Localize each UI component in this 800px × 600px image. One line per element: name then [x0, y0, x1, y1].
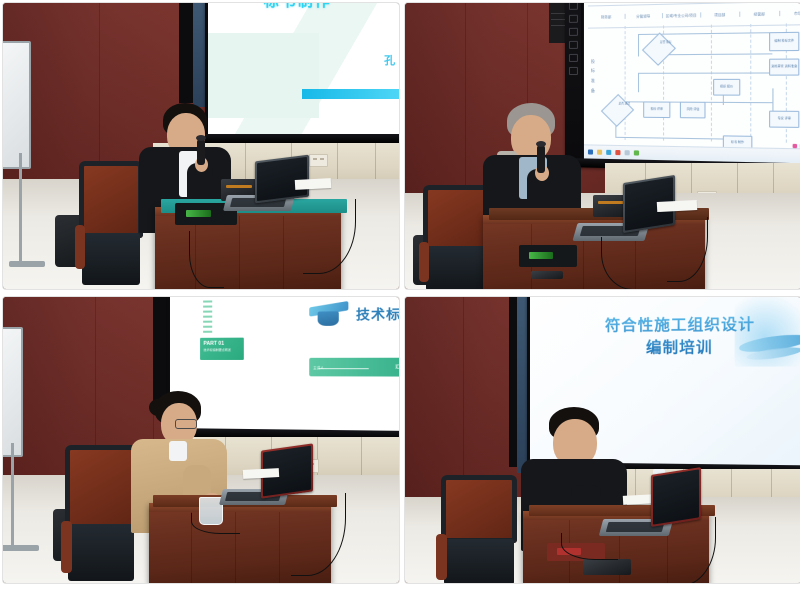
photo-panel-bottom-right[interactable]: 符合性施工组织设计 编制培训 [404, 296, 800, 584]
papers [295, 178, 331, 190]
doc-icon [625, 150, 630, 155]
whiteboard [3, 41, 31, 169]
chat-icon [634, 151, 639, 156]
whiteboard-base [9, 261, 45, 267]
part-badge: PART 01 技术标编制要点概述 [200, 338, 243, 360]
whiteboard-leg [19, 153, 22, 263]
photo-panel-bottom-left[interactable]: PART 01 技术标编制要点概述 技术标编制 主讲人 汇报人: [2, 296, 400, 584]
projector-remote[interactable] [531, 271, 563, 279]
papers [243, 468, 279, 479]
photo-panel-top-left[interactable]: 标书制作 孔 [2, 2, 400, 290]
shirt-collar [169, 441, 187, 461]
projector-remote[interactable] [583, 559, 631, 575]
glasses [175, 419, 197, 429]
flowchart-col-0: 财务部 [588, 14, 625, 20]
part-label: PART 01 [204, 341, 224, 347]
whiteboard-leg [11, 443, 14, 547]
whiteboard-base [3, 545, 39, 551]
flowchart-node-4: 编制 投标文件 [769, 32, 799, 51]
power-outlet [309, 154, 328, 167]
slide-title: 符合性施工组织设计 编制培训 [588, 314, 772, 361]
decorative-dots [203, 300, 212, 335]
room-scene-top-left: 标书制作 孔 [3, 3, 399, 289]
slide-subtitle: 孔 [384, 52, 395, 68]
flowchart-col-4: 经营部 [740, 11, 780, 17]
flowchart-node-7: 资格审查 资料准备 [769, 59, 799, 76]
papers [657, 200, 697, 212]
flowchart-node-8: 专家 评审 [769, 111, 799, 129]
room-scene-bottom-left: PART 01 技术标编制要点概述 技术标编制 主讲人 汇报人: [3, 297, 399, 583]
slide-title: 标书制作 [264, 3, 332, 11]
slide-title-line1: 符合性施工组织设计 [605, 316, 755, 335]
flowchart-phase-label: 投 标 准 备 [587, 57, 598, 96]
mousepad [519, 245, 577, 267]
flowchart-node-6: 组织 报价 [713, 79, 739, 96]
part-sub-label: 技术标编制要点概述 [204, 348, 244, 353]
graduation-cap-icon [309, 297, 349, 333]
flowchart-col-3: 项目部 [701, 12, 740, 18]
flowchart-node-3: 投标 评审 [643, 102, 671, 119]
slide-flowchart: 财务部 分管领导 区域/专业公司/项目 项目部 经营部 市场部 [584, 3, 800, 164]
flowchart-col-2: 区域/专业公司/项目 [663, 12, 701, 18]
flowchart-header-row: 财务部 分管领导 区域/专业公司/项目 项目部 经营部 市场部 [588, 3, 800, 28]
microphone [197, 139, 205, 165]
chair [441, 475, 517, 583]
chair [65, 445, 137, 581]
photo-panel-top-right[interactable]: 财务部 分管领导 区域/专业公司/项目 项目部 经营部 市场部 [404, 2, 800, 290]
reporter-label: 汇报人: [395, 364, 399, 370]
microphone [537, 145, 545, 173]
slide-title: 技术标编制 [356, 303, 399, 324]
slide-title-line2: 编制培训 [588, 337, 772, 361]
flowchart-decision-1: 是否 投标 [642, 32, 676, 65]
room-scene-bottom-right: 符合性施工组织设计 编制培训 [405, 297, 800, 583]
slide-accent-bar [302, 89, 399, 99]
room-scene-top-right: 财务部 分管领导 区域/专业公司/项目 项目部 经营部 市场部 [405, 3, 800, 289]
chair [79, 161, 143, 285]
whiteboard [3, 327, 23, 457]
browser-icon [606, 150, 611, 155]
chair [423, 185, 489, 289]
photo-collage: 标书制作 孔 [0, 0, 800, 600]
flowchart-col-5: 市场部 [780, 10, 800, 16]
flowchart-col-1: 分管领导 [625, 13, 662, 19]
flowchart-decision-2: 是否 通过 [601, 94, 634, 127]
flowchart-node-5: 风险 评估 [680, 102, 706, 119]
app-icon [615, 150, 620, 155]
